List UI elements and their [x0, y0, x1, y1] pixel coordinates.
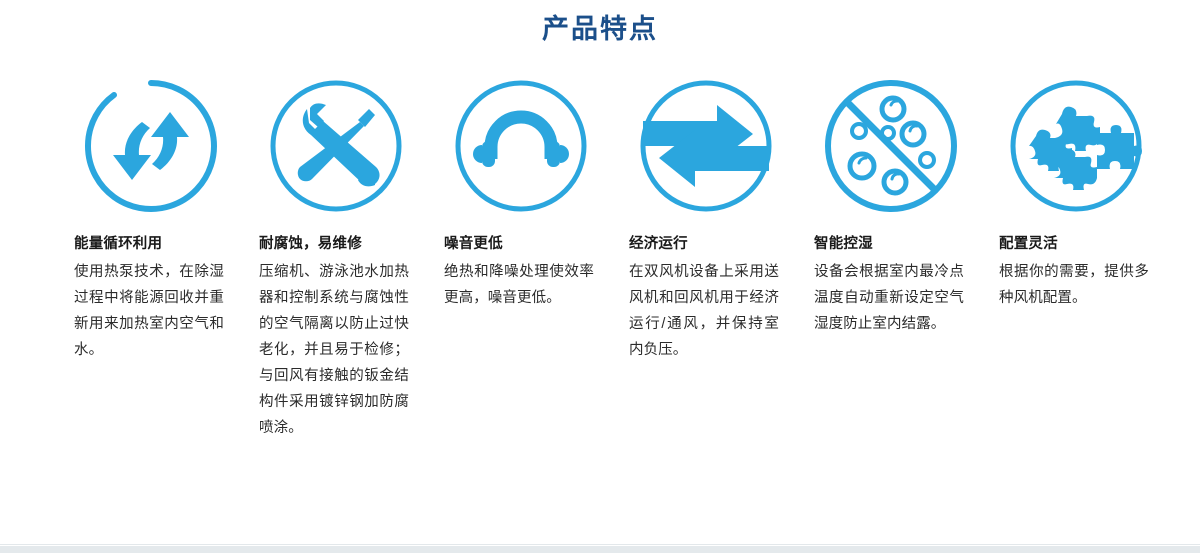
feature-body: 在双风机设备上采用送风机和回风机用于经济运行/通风，并保持室内负压。	[629, 259, 779, 363]
feature-item: 噪音更低 绝热和降噪处理使效率更高，噪音更低。	[428, 56, 613, 311]
feature-body: 使用热泵技术，在除湿过程中将能源回收并重新用来加热室内空气和水。	[74, 259, 224, 363]
feature-title: 配置灵活	[999, 233, 1058, 255]
feature-item: 耐腐蚀，易维修 压缩机、游泳池水加热器和控制系统与腐蚀性的空气隔离以防止过快老化…	[243, 56, 428, 441]
feature-title: 能量循环利用	[74, 233, 162, 255]
no-condensation-droplets-icon	[798, 71, 983, 221]
feature-list: 能量循环利用 使用热泵技术，在除湿过程中将能源回收并重新用来加热室内空气和水。	[0, 56, 1200, 441]
feature-item: 配置灵活 根据你的需要，提供多种风机配置。	[983, 56, 1168, 311]
feature-title: 经济运行	[629, 233, 688, 255]
feature-title: 噪音更低	[444, 233, 503, 255]
product-features-page: 产品特点 能量循环利用 使用热泵技术，在除湿过程中将能源回收并重新用来加热室内空…	[0, 0, 1200, 553]
feature-item: 能量循环利用 使用热泵技术，在除湿过程中将能源回收并重新用来加热室内空气和水。	[58, 56, 243, 363]
feature-body: 根据你的需要，提供多种风机配置。	[999, 259, 1149, 311]
feature-body: 压缩机、游泳池水加热器和控制系统与腐蚀性的空气隔离以防止过快老化，并且易于检修；…	[259, 259, 409, 441]
headphones-icon	[428, 71, 613, 221]
feature-title: 智能控湿	[814, 233, 873, 255]
bottom-band	[0, 546, 1200, 553]
feature-body: 绝热和降噪处理使效率更高，噪音更低。	[444, 259, 594, 311]
puzzle-pieces-icon	[983, 71, 1168, 221]
bottom-divider	[0, 544, 1200, 545]
feature-item: 经济运行 在双风机设备上采用送风机和回风机用于经济运行/通风，并保持室内负压。	[613, 56, 798, 363]
feature-item: 智能控湿 设备会根据室内最冷点温度自动重新设定空气湿度防止室内结露。	[798, 56, 983, 337]
page-title: 产品特点	[0, 0, 1200, 56]
energy-cycle-arrows-icon	[58, 71, 243, 221]
feature-body: 设备会根据室内最冷点温度自动重新设定空气湿度防止室内结露。	[814, 259, 964, 337]
wrench-screwdriver-icon	[243, 71, 428, 221]
feature-title: 耐腐蚀，易维修	[259, 233, 362, 255]
two-way-arrows-icon	[613, 71, 798, 221]
